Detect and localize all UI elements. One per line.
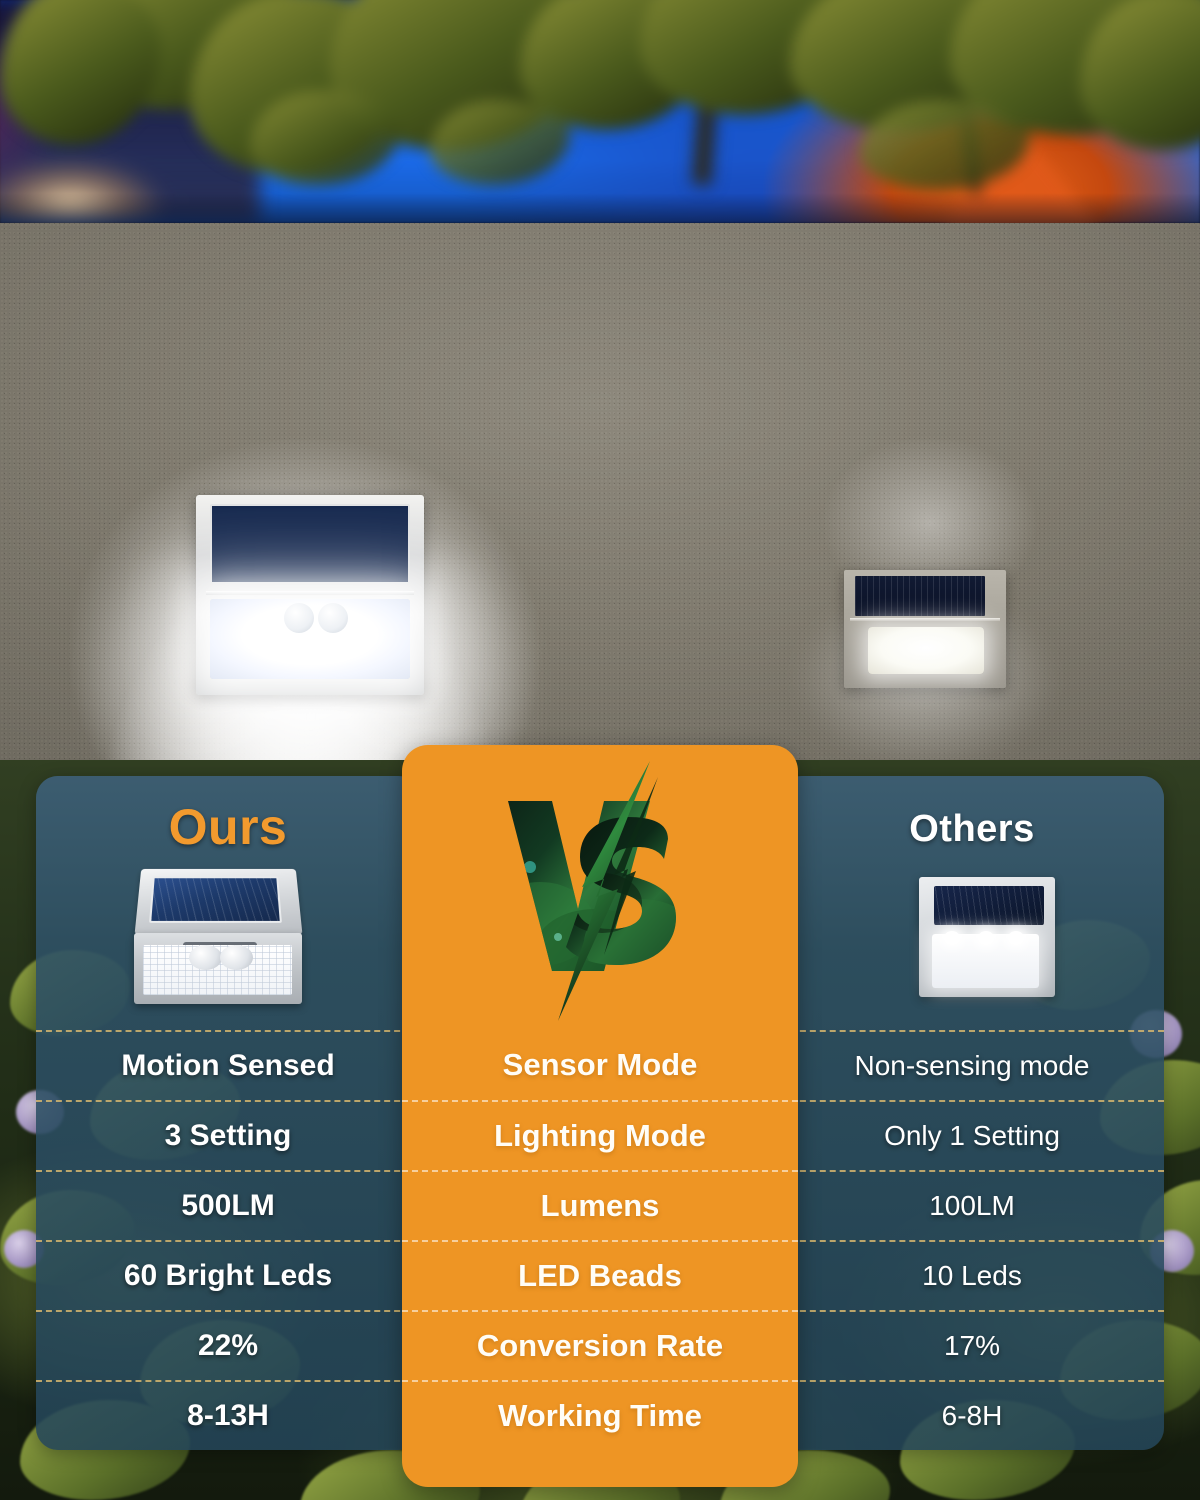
list-item: 8-13H — [36, 1380, 420, 1450]
led-panel — [868, 627, 984, 674]
list-item: 500LM — [36, 1170, 420, 1240]
solar-panel-icon — [149, 876, 282, 923]
center-feature-list: Sensor Mode Lighting Mode Lumens LED Bea… — [402, 1030, 798, 1450]
others-title: Others — [780, 808, 1164, 851]
motion-sensor-lens — [318, 603, 348, 633]
led-dot — [1008, 931, 1024, 945]
lamp-divider — [206, 591, 414, 595]
ours-title: Ours — [36, 798, 420, 856]
list-item: 100LM — [780, 1170, 1164, 1240]
list-item: 6-8H — [780, 1380, 1164, 1450]
comparison-center-panel: Sensor Mode Lighting Mode Lumens LED Bea… — [402, 745, 798, 1487]
wall-photo-section — [0, 223, 1200, 783]
list-item: 22% — [36, 1310, 420, 1380]
secondary-solar-light — [844, 570, 1006, 688]
solar-motion-light-icon — [118, 862, 314, 1010]
list-item: Sensor Mode — [402, 1030, 798, 1100]
hero-banner-photo — [0, 0, 1200, 223]
motion-sensor-lens — [284, 603, 314, 633]
vs-lightning-logo — [402, 745, 798, 1030]
banner-shadow — [0, 193, 1200, 223]
tree-canopy — [0, 0, 1200, 200]
competitor-solar-light-icon — [898, 862, 1076, 1012]
list-item: 60 Bright Leds — [36, 1240, 420, 1310]
motion-sensor-lens — [220, 945, 253, 970]
ours-values-list: Motion Sensed 3 Setting 500LM 60 Bright … — [36, 1030, 420, 1450]
led-dot — [944, 931, 960, 945]
list-item: Motion Sensed — [36, 1030, 420, 1100]
vs-icon — [500, 759, 710, 1021]
primary-solar-light — [196, 495, 424, 695]
product-comparison-infographic: Ours Motion Sensed 3 Setting 500LM 60 Br… — [0, 0, 1200, 1500]
lamp-divider — [850, 618, 1000, 621]
list-item: 10 Leds — [780, 1240, 1164, 1310]
list-item: Working Time — [402, 1380, 798, 1450]
solar-panel-icon — [855, 576, 985, 616]
list-item: LED Beads — [402, 1240, 798, 1310]
list-item: 17% — [780, 1310, 1164, 1380]
solar-panel-icon — [934, 886, 1044, 925]
motion-sensor-lens — [189, 945, 222, 970]
list-item: Lumens — [402, 1170, 798, 1240]
list-item: Only 1 Setting — [780, 1100, 1164, 1170]
list-item: 3 Setting — [36, 1100, 420, 1170]
list-item: Lighting Mode — [402, 1100, 798, 1170]
led-dot — [978, 931, 994, 945]
list-item: Non-sensing mode — [780, 1030, 1164, 1100]
solar-panel-icon — [210, 504, 410, 584]
list-item: Conversion Rate — [402, 1310, 798, 1380]
others-values-list: Non-sensing mode Only 1 Setting 100LM 10… — [780, 1030, 1164, 1450]
